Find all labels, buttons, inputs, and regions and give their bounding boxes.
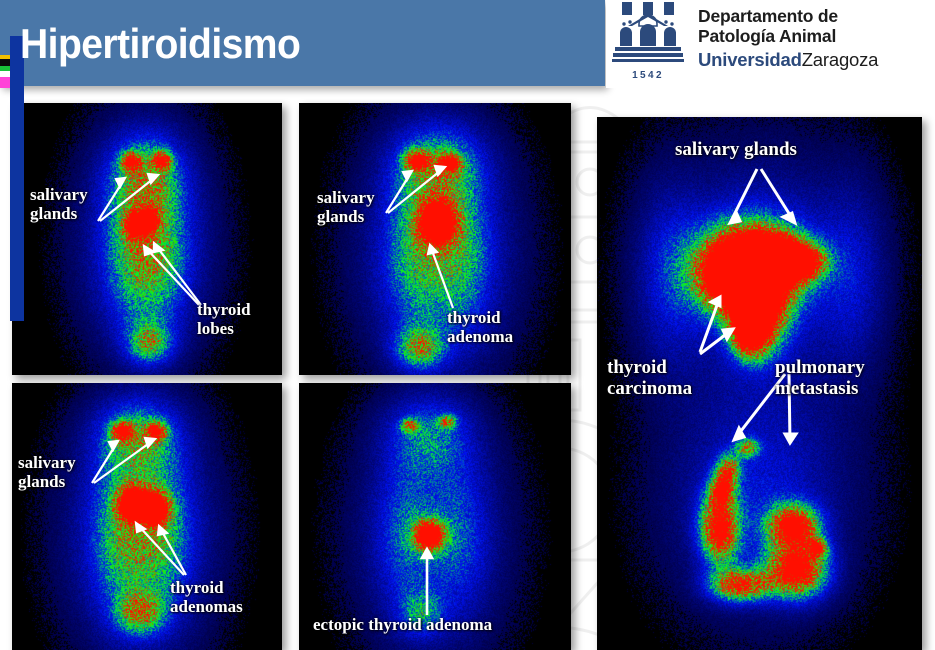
logo-year: 1542	[612, 70, 684, 81]
logo-department-line2: Patología Animal	[698, 26, 878, 46]
annotation-label: thyroid adenoma	[447, 308, 513, 346]
annotation-label: pulmonary metastasis	[775, 357, 865, 400]
annotation-label: salivary glands	[675, 139, 797, 160]
scan-panel-bottom-middle: ectopic thyroid adenoma	[299, 383, 571, 650]
annotation-label: thyroid adenomas	[170, 578, 243, 616]
scan-image-top-middle	[299, 103, 571, 375]
logo-university-city: Zaragoza	[802, 49, 879, 70]
annotation-label: ectopic thyroid adenoma	[313, 615, 492, 634]
color-chip-marker	[0, 55, 10, 88]
scan-panel-right: salivary glands thyroid carcinoma pulmon…	[597, 117, 922, 650]
annotation-label: thyroid lobes	[197, 300, 251, 338]
left-accent-rail	[10, 36, 24, 321]
scan-panel-bottom-left: salivary glands thyroid adenomas	[12, 383, 282, 650]
logo-department-line1: Departamento de	[698, 6, 878, 26]
annotation-label: thyroid carcinoma	[607, 357, 692, 400]
annotation-label: salivary glands	[18, 453, 76, 491]
university-logo-block: 1542 Departamento de Patología Animal Un…	[606, 0, 935, 88]
annotation-label: salivary glands	[30, 185, 88, 223]
annotation-label: salivary glands	[317, 188, 375, 226]
logo-university-bold: Universidad	[698, 49, 802, 70]
university-building-icon: 1542	[612, 2, 684, 81]
scan-panel-top-middle: salivary glands thyroid adenoma	[299, 103, 571, 375]
page-title: Hipertiroidismo	[20, 20, 300, 68]
scan-panel-top-left: salivary glands thyroid lobes	[12, 103, 282, 375]
scan-image-bottom-middle	[299, 383, 571, 650]
